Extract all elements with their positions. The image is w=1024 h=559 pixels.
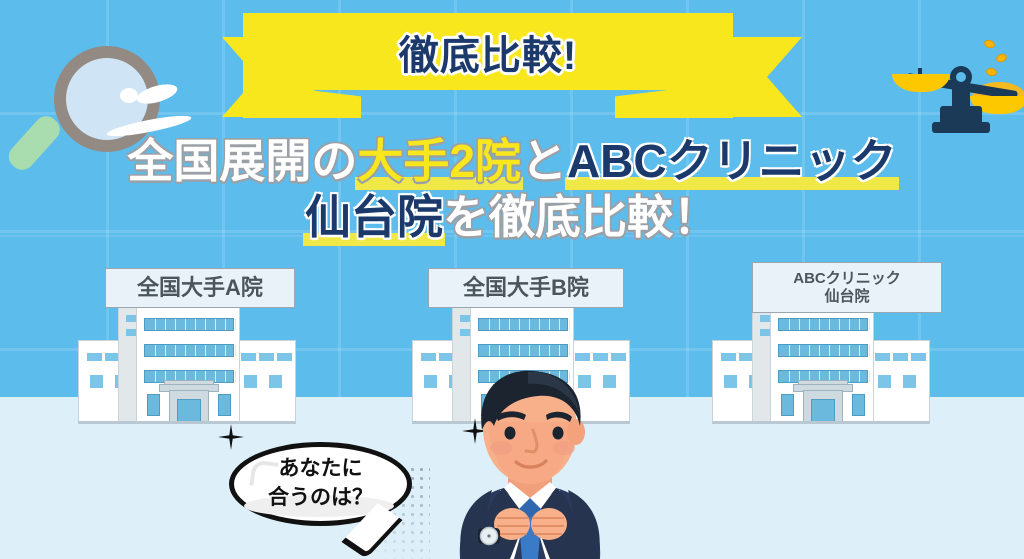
- bubble-gloss: [249, 459, 278, 488]
- window: [259, 353, 274, 361]
- headline-line-2: 仙台院を徹底比較！: [0, 189, 1024, 245]
- headline-line-1: 全国展開の大手2院とABCクリニック: [0, 133, 1024, 189]
- headline-segment: 大手2院: [357, 133, 521, 189]
- window-band: [478, 318, 568, 331]
- window-band: [144, 318, 234, 331]
- ribbon-banner: 徹底比較!: [0, 0, 1024, 120]
- ribbon-label: 徹底比較!: [243, 13, 733, 90]
- window: [277, 353, 292, 361]
- window: [611, 353, 626, 361]
- speech-bubble: あなたに 合うのは？: [229, 442, 412, 526]
- scale-base-lower: [932, 122, 990, 133]
- window-band: [478, 344, 568, 357]
- window: [875, 353, 890, 361]
- window-band: [778, 344, 868, 357]
- window: [903, 375, 916, 388]
- sparkle-icon: [218, 424, 244, 450]
- hero-banner: 徹底比較! 全国展開の大手2院とABCクリニック 仙台院を徹底比較！ 全国大手A…: [0, 0, 1024, 559]
- window: [593, 353, 608, 361]
- bubble-line-1: あなたに: [279, 455, 363, 484]
- window: [721, 353, 736, 361]
- headline-segment: と: [521, 133, 567, 189]
- building-entrance: [803, 390, 843, 423]
- bubble-line-2: 合うのは？: [268, 484, 373, 513]
- building-right-wing: [232, 340, 296, 422]
- window: [878, 375, 891, 388]
- building-clinic-abc-sendai: [712, 300, 930, 422]
- window-band: [144, 344, 234, 357]
- plate-line-1: ABCクリニック: [793, 270, 901, 288]
- window: [87, 353, 102, 361]
- window: [421, 353, 436, 361]
- window: [269, 375, 282, 388]
- window: [218, 394, 231, 416]
- building-base: [712, 421, 930, 424]
- building-name-plate-clinic-b: 全国大手B院: [428, 268, 624, 308]
- headline-segment: ABCクリニック: [567, 133, 897, 189]
- building-center: [770, 305, 874, 422]
- building-name-plate-clinic-abc-sendai: ABCクリニック仙台院: [752, 262, 942, 313]
- window: [911, 353, 926, 361]
- window: [147, 394, 160, 416]
- building-name-plate-clinic-a: 全国大手A院: [105, 268, 295, 308]
- businessman-illustration: [400, 370, 660, 559]
- plate-line-1: 全国大手A院: [137, 275, 263, 301]
- plate-line-1: 全国大手B院: [463, 275, 589, 301]
- building-entrance: [169, 390, 209, 423]
- window-band: [778, 318, 868, 331]
- building-center: [136, 305, 240, 422]
- window: [90, 375, 103, 388]
- headline: 全国展開の大手2院とABCクリニック 仙台院を徹底比較！: [0, 133, 1024, 245]
- window: [893, 353, 908, 361]
- window: [244, 375, 257, 388]
- headline-segment: 仙台院: [305, 189, 443, 245]
- window: [724, 375, 737, 388]
- headline-segment: 全国展開の: [127, 133, 357, 189]
- building-clinic-a: [78, 300, 296, 422]
- building-right-wing: [866, 340, 930, 422]
- window: [241, 353, 256, 361]
- plate-line-2: 仙台院: [793, 288, 901, 306]
- headline-segment: を徹底比較！: [443, 189, 719, 245]
- building-base: [78, 421, 296, 424]
- window: [781, 394, 794, 416]
- window: [852, 394, 865, 416]
- window: [575, 353, 590, 361]
